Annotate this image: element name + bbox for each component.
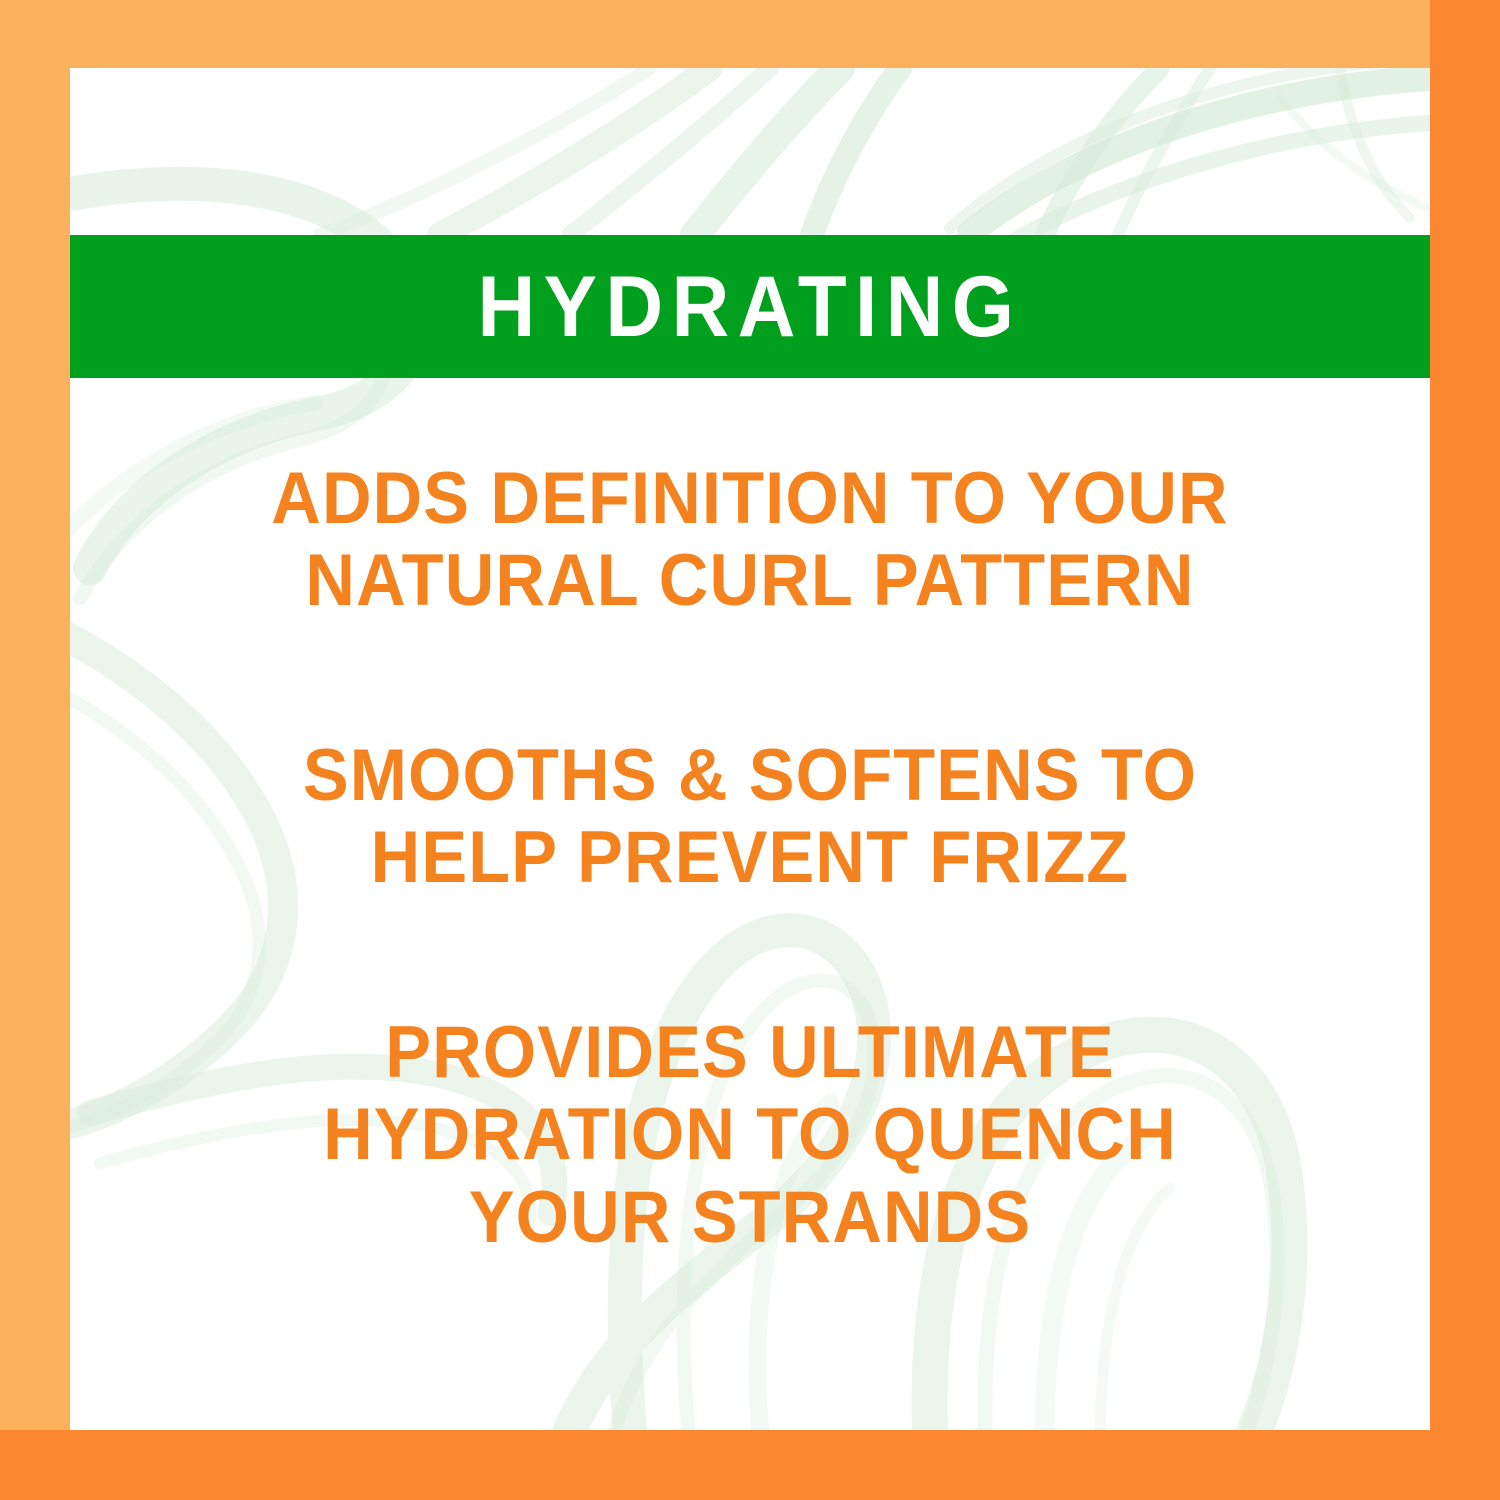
white-content-panel: HYDRATING ADDS DEFINITION TO YOUR NATURA… [70,68,1430,1430]
banner-title: HYDRATING [478,264,1023,350]
product-benefit-poster: HYDRATING ADDS DEFINITION TO YOUR NATURA… [0,0,1500,1500]
benefit-item-hydration: PROVIDES ULTIMATE HYDRATION TO QUENCH YO… [111,1012,1389,1259]
benefit-item-definition: ADDS DEFINITION TO YOUR NATURAL CURL PAT… [111,458,1389,623]
benefits-list: ADDS DEFINITION TO YOUR NATURAL CURL PAT… [70,458,1430,1259]
benefit-item-frizz: SMOOTHS & SOFTENS TO HELP PREVENT FRIZZ [111,735,1389,900]
hydrating-banner: HYDRATING [70,235,1430,378]
